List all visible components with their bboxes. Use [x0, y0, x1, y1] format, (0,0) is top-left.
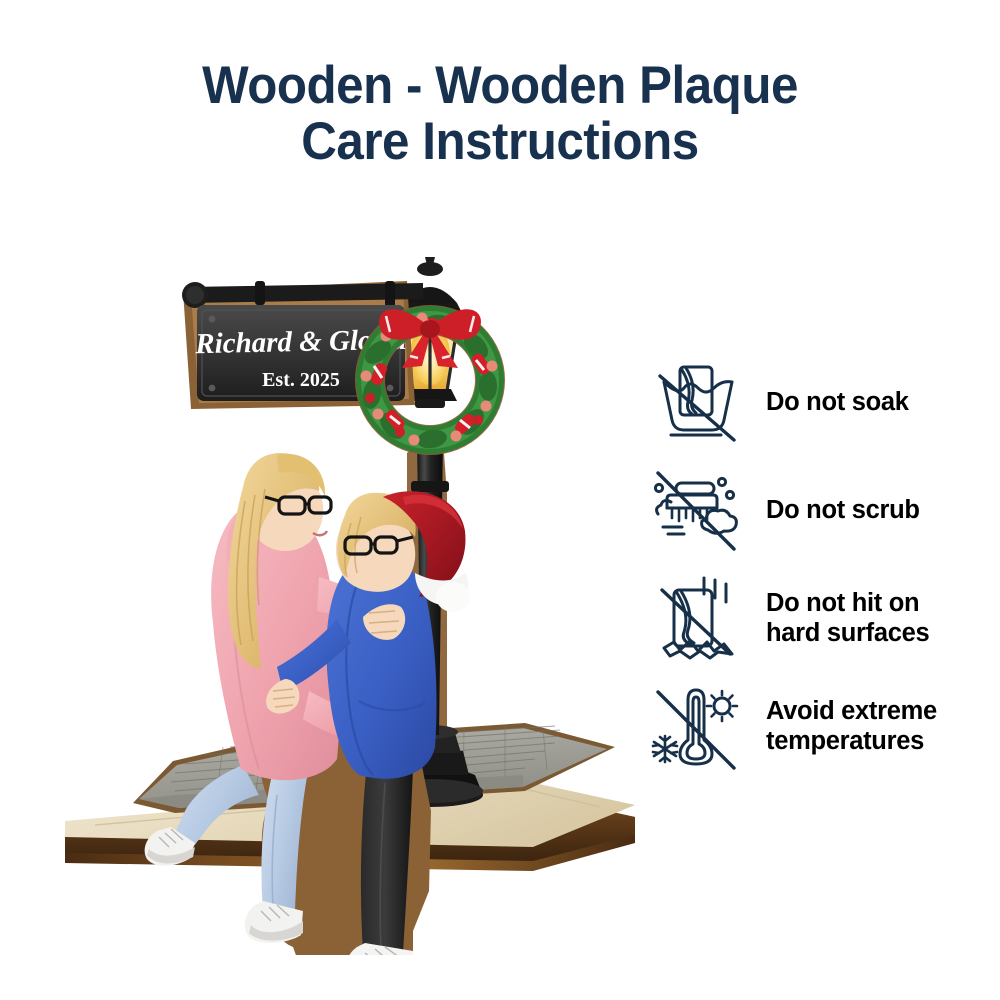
sign-established: Est. 2025 [262, 369, 340, 391]
care-label-no-scrub: Do not scrub [766, 495, 920, 525]
care-label-no-soak: Do not soak [766, 387, 909, 417]
care-item-no-scrub: Do not scrub [648, 456, 978, 564]
page-title: Wooden - Wooden Plaque Care Instructions [35, 58, 965, 170]
care-item-no-impact: Do not hit on hard surfaces [648, 564, 978, 672]
no-soak-icon [648, 354, 744, 450]
no-temperature-icon [648, 678, 744, 774]
no-scrub-icon [648, 462, 744, 558]
care-item-no-soak: Do not soak [648, 348, 978, 456]
care-item-no-temperature: Avoid extreme temperatures [648, 672, 978, 780]
no-impact-icon [648, 570, 744, 666]
care-label-no-impact: Do not hit on hard surfaces [766, 588, 929, 648]
page-title-line-2: Care Instructions [35, 114, 965, 170]
product-illustration: Richard & Gloria Est. 2025 [55, 195, 655, 955]
care-instructions-page: Wooden - Wooden Plaque Care Instructions [0, 0, 1000, 1000]
care-instructions-list: Do not soak [648, 348, 978, 780]
care-label-no-temperature: Avoid extreme temperatures [766, 696, 937, 756]
couple-figure [145, 453, 470, 955]
page-title-line-1: Wooden - Wooden Plaque [35, 58, 965, 114]
